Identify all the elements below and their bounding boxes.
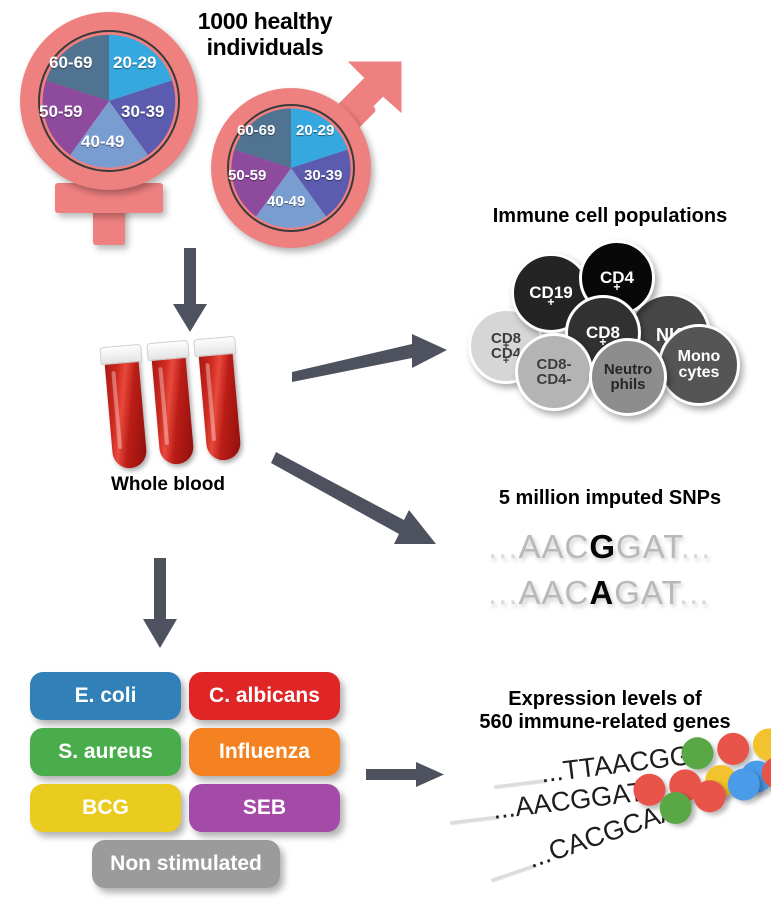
cell-label-line1: Mono xyxy=(678,349,721,365)
cell-label-line2: phils xyxy=(604,377,652,392)
expression-title: Expression levels of 560 immune-related … xyxy=(440,688,770,734)
immune-cell-cluster: CD8+ CD4+ NK CD19+ CD4+ CD8+ Mono cytes … xyxy=(455,240,765,410)
female-symbol: 20-29 30-39 40-49 50-59 60-69 xyxy=(8,10,218,245)
stimulation-label: Non stimulated xyxy=(110,852,262,876)
stimulation-box-bcg[interactable]: BCG xyxy=(30,784,181,832)
snp-suffix: ... xyxy=(681,528,712,565)
expression-title-line2: 560 immune-related genes xyxy=(440,711,770,734)
female-pie-label-20-29: 20-29 xyxy=(113,53,156,73)
immune-cell-neutrophils: Neutro phils xyxy=(589,338,667,416)
male-pie-label-30-39: 30-39 xyxy=(304,167,342,184)
immune-cell-monocytes: Mono cytes xyxy=(658,324,740,406)
snp-prefix: ... xyxy=(488,528,519,565)
snp-variant-top: G xyxy=(589,528,616,565)
expression-strands: ...TTAACGG ...AACGGAT ...CACGCAA xyxy=(455,740,771,915)
male-pie-label-40-49: 40-49 xyxy=(267,193,305,210)
stimulation-panel: E. coli C. albicans S. aureus Influenza … xyxy=(30,672,350,892)
female-pie-label-50-59: 50-59 xyxy=(39,102,82,122)
blood-tube-body xyxy=(104,353,148,470)
arrow-blood-to-snp xyxy=(276,452,451,562)
snp-bottom-after: GAT xyxy=(614,574,679,611)
snp-title: 5 million imputed SNPs xyxy=(450,487,770,510)
stimulation-label: BCG xyxy=(82,796,129,820)
cell-label-line1: CD8+ xyxy=(491,331,521,346)
stimulation-box-non-stimulated[interactable]: Non stimulated xyxy=(92,840,280,888)
snp-top-before: AAC xyxy=(519,528,590,565)
snp-suffix: ... xyxy=(679,574,710,611)
male-pie-label-60-69: 60-69 xyxy=(237,122,275,139)
cell-label-line1: Neutro xyxy=(604,362,652,377)
arrow-cohort-to-blood xyxy=(172,248,212,334)
male-pie-label-20-29: 20-29 xyxy=(296,122,334,139)
male-pie-label-50-59: 50-59 xyxy=(228,167,266,184)
stimulation-label: SEB xyxy=(243,796,286,820)
blood-tube-body xyxy=(151,349,195,466)
immune-populations-title: Immune cell populations xyxy=(450,205,770,228)
snp-bottom-before: AAC xyxy=(519,574,590,611)
cell-label-line1: CD8- xyxy=(536,357,571,372)
cell-label-line2: cytes xyxy=(678,365,721,381)
blood-tube-lip xyxy=(193,336,236,358)
strand-lead-line xyxy=(450,815,500,824)
female-pie-label-60-69: 60-69 xyxy=(49,53,92,73)
blood-tube-body xyxy=(198,345,242,462)
blood-tube-lip xyxy=(99,344,142,366)
arrow-blood-to-stimulations xyxy=(142,558,182,650)
stimulation-box-influenza[interactable]: Influenza xyxy=(189,728,340,776)
female-pie-label-30-39: 30-39 xyxy=(121,102,164,122)
immune-cell-cd8neg-cd4neg: CD8- CD4- xyxy=(515,333,593,411)
male-symbol: 20-29 30-39 40-49 50-59 60-69 xyxy=(205,60,405,245)
blood-tube-lip xyxy=(146,340,189,362)
strand-lead-line xyxy=(494,779,548,789)
stimulation-box-s-aureus[interactable]: S. aureus xyxy=(30,728,181,776)
cell-label-cd4: CD4+ xyxy=(600,269,634,286)
snp-top-after: GAT xyxy=(616,528,681,565)
stimulation-label: S. aureus xyxy=(58,740,153,764)
snp-sequence-bottom: ...AACAGAT... xyxy=(488,574,709,612)
snp-sequence-top: ...AACGGAT... xyxy=(488,528,711,566)
stimulation-label: C. albicans xyxy=(209,684,320,708)
arrow-blood-to-immune xyxy=(292,330,452,380)
female-pie-label-40-49: 40-49 xyxy=(81,132,124,152)
snp-prefix: ... xyxy=(488,574,519,611)
figure-canvas: 1000 healthy individuals 20-29 30-39 40-… xyxy=(0,0,771,922)
whole-blood-tubes xyxy=(96,348,266,478)
cell-label-line2: CD4- xyxy=(536,372,571,387)
snp-variant-bottom: A xyxy=(589,574,614,611)
arrow-stimulations-to-expression xyxy=(366,758,446,798)
snp-sequences: ...AACGGAT... ...AACAGAT... xyxy=(488,528,748,618)
expression-title-line1: Expression levels of xyxy=(440,688,770,711)
stimulation-box-seb[interactable]: SEB xyxy=(189,784,340,832)
stimulation-box-c-albicans[interactable]: C. albicans xyxy=(189,672,340,720)
stimulation-label: E. coli xyxy=(75,684,137,708)
stimulation-label: Influenza xyxy=(219,740,310,764)
whole-blood-label: Whole blood xyxy=(78,474,258,496)
cell-label-cd19: CD19+ xyxy=(529,284,572,301)
stimulation-box-e-coli[interactable]: E. coli xyxy=(30,672,181,720)
expression-dot xyxy=(715,731,751,767)
